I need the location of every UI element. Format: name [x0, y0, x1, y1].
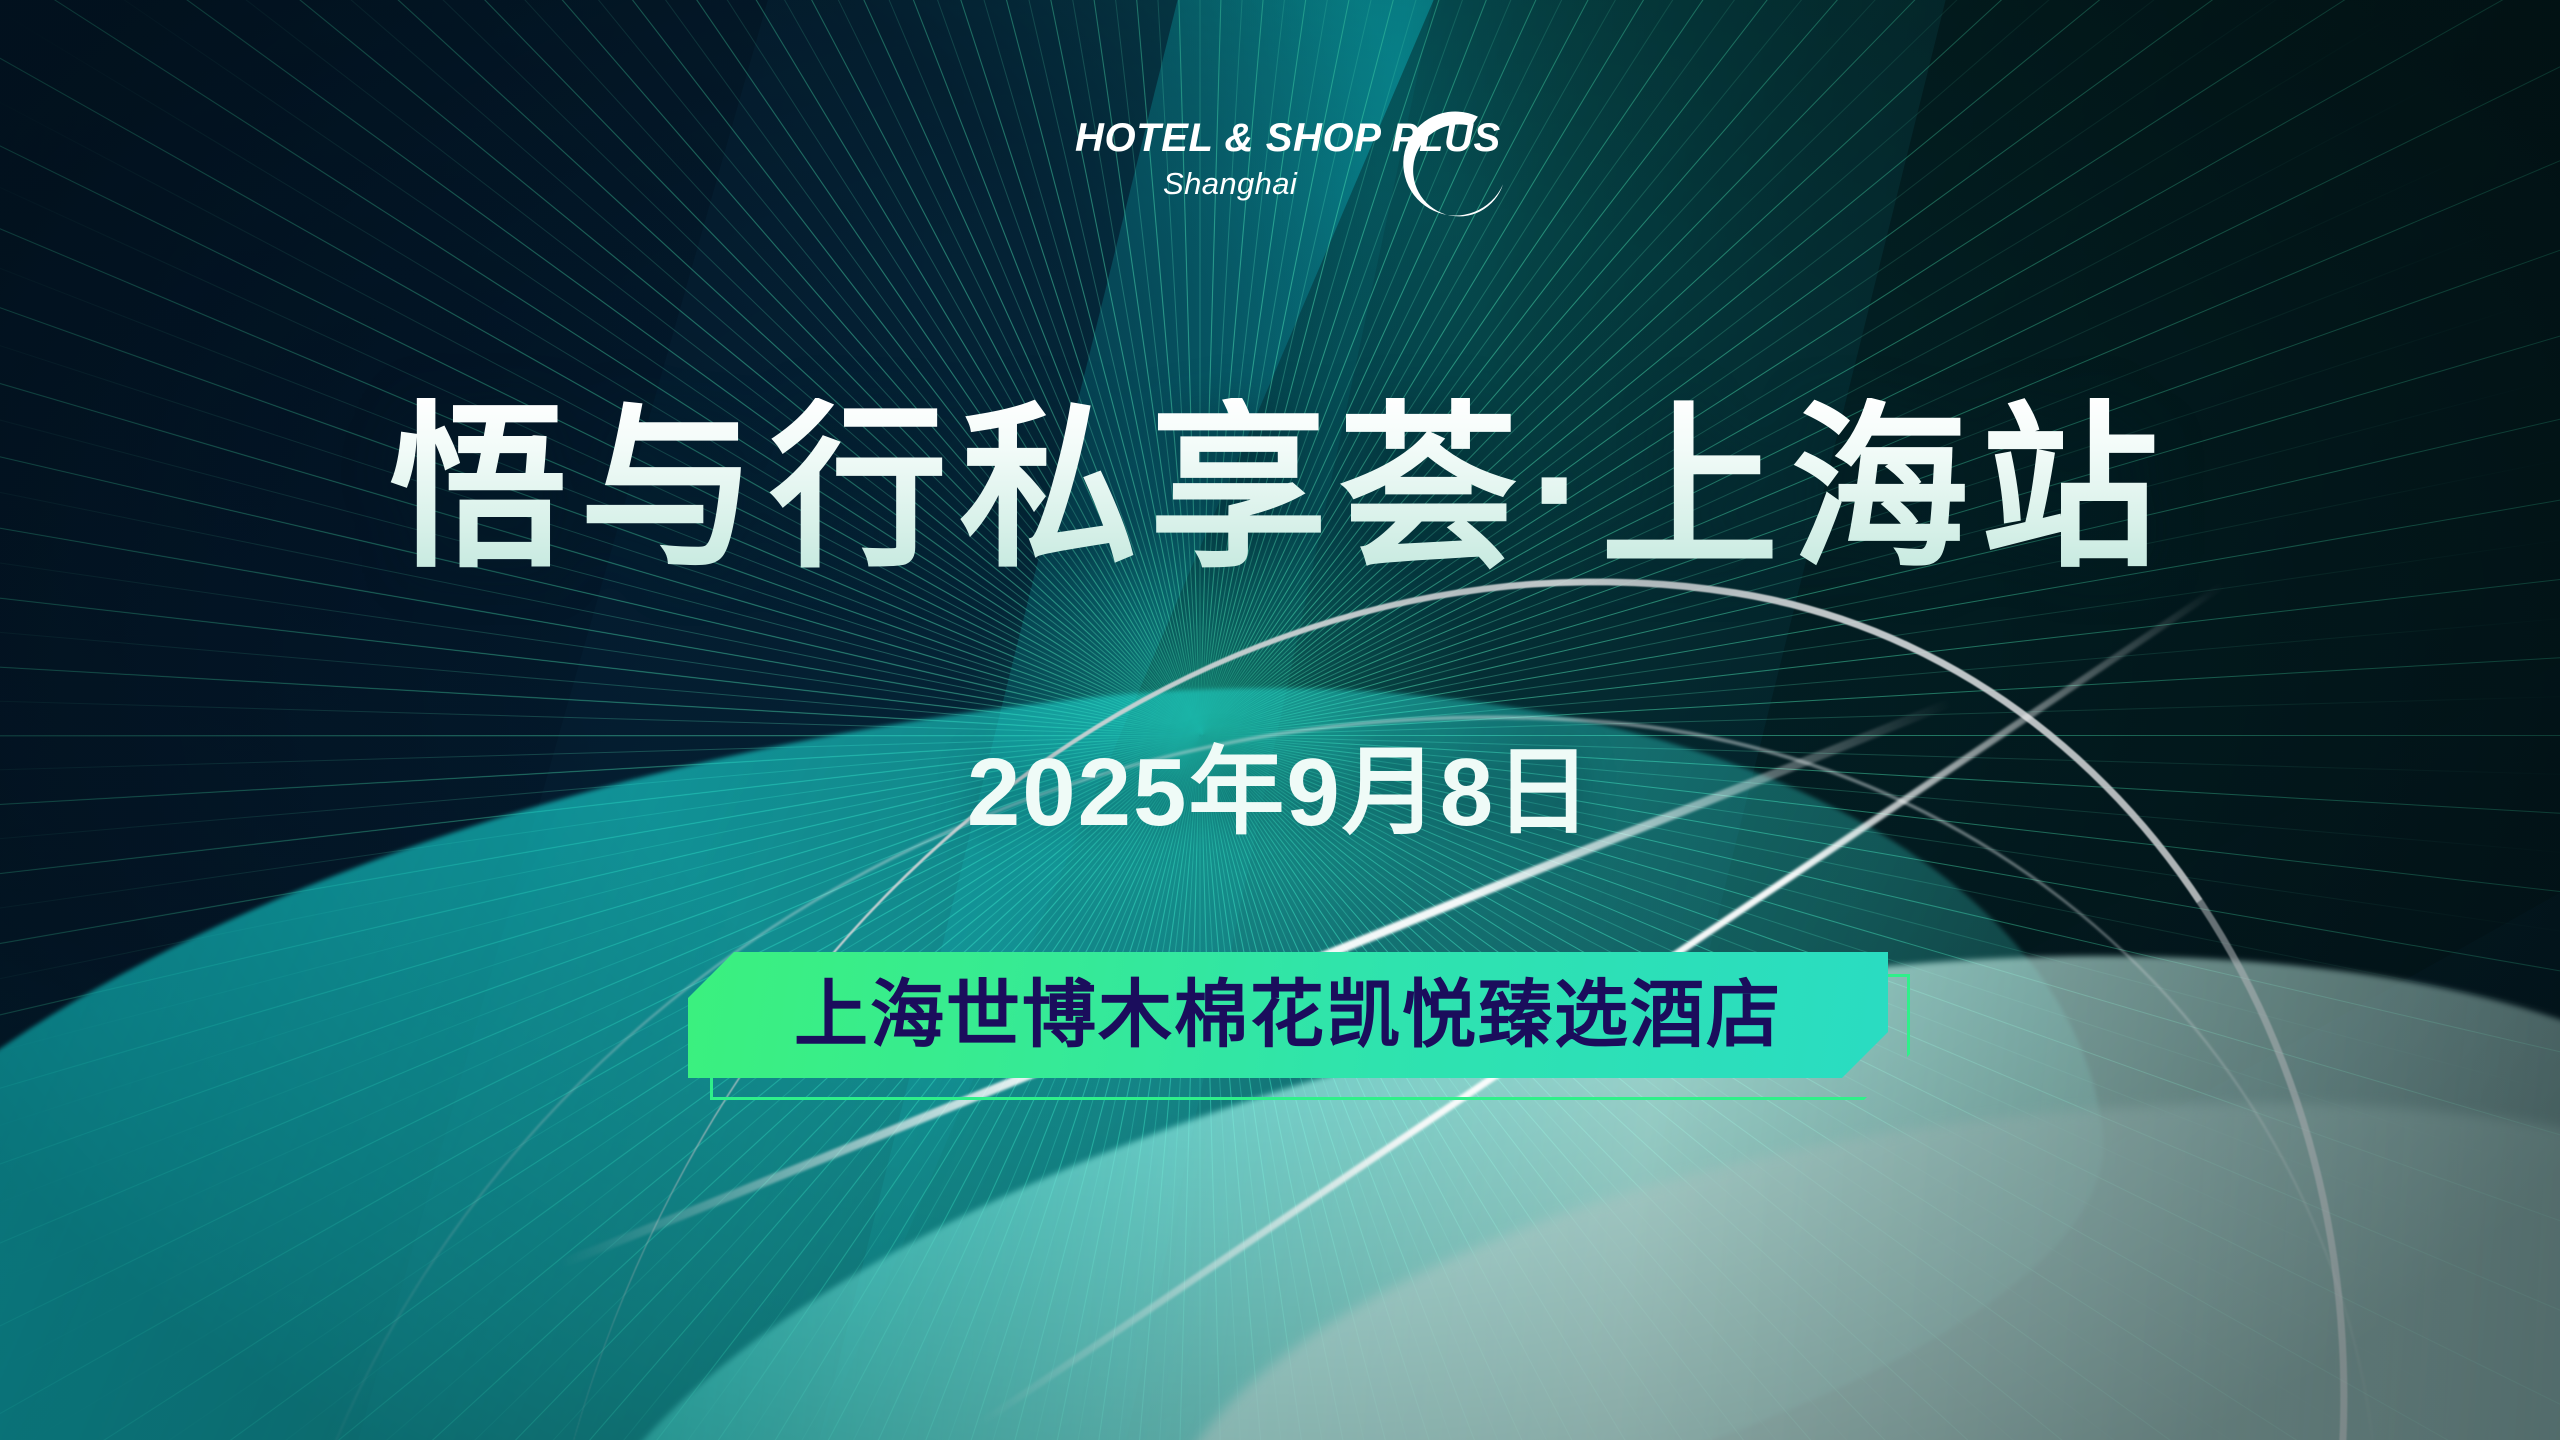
event-logo: HOTEL & SHOP PLUS Shanghai [1075, 110, 1515, 260]
venue-bar: 上海世博木棉花凯悦臻选酒店 [688, 952, 1888, 1078]
logo-wordmark: HOTEL & SHOP PLUS Shanghai [1075, 118, 1415, 199]
banner-content: HOTEL & SHOP PLUS Shanghai 悟与行私享荟·上海站 20… [0, 0, 2560, 1440]
logo-sub-text: Shanghai [1163, 168, 1415, 199]
venue-banner: 上海世博木棉花凯悦臻选酒店 [688, 952, 1910, 1084]
page-title: 悟与行私享荟·上海站 [0, 398, 2560, 580]
event-promo-banner: HOTEL & SHOP PLUS Shanghai 悟与行私享荟·上海站 20… [0, 0, 2560, 1440]
crescent-ring-swoosh-icon [1397, 110, 1515, 228]
venue-name: 上海世博木棉花凯悦臻选酒店 [794, 978, 1782, 1052]
logo-main-text: HOTEL & SHOP PLUS [1075, 118, 1415, 158]
event-date: 2025年9月8日 [0, 745, 2560, 841]
